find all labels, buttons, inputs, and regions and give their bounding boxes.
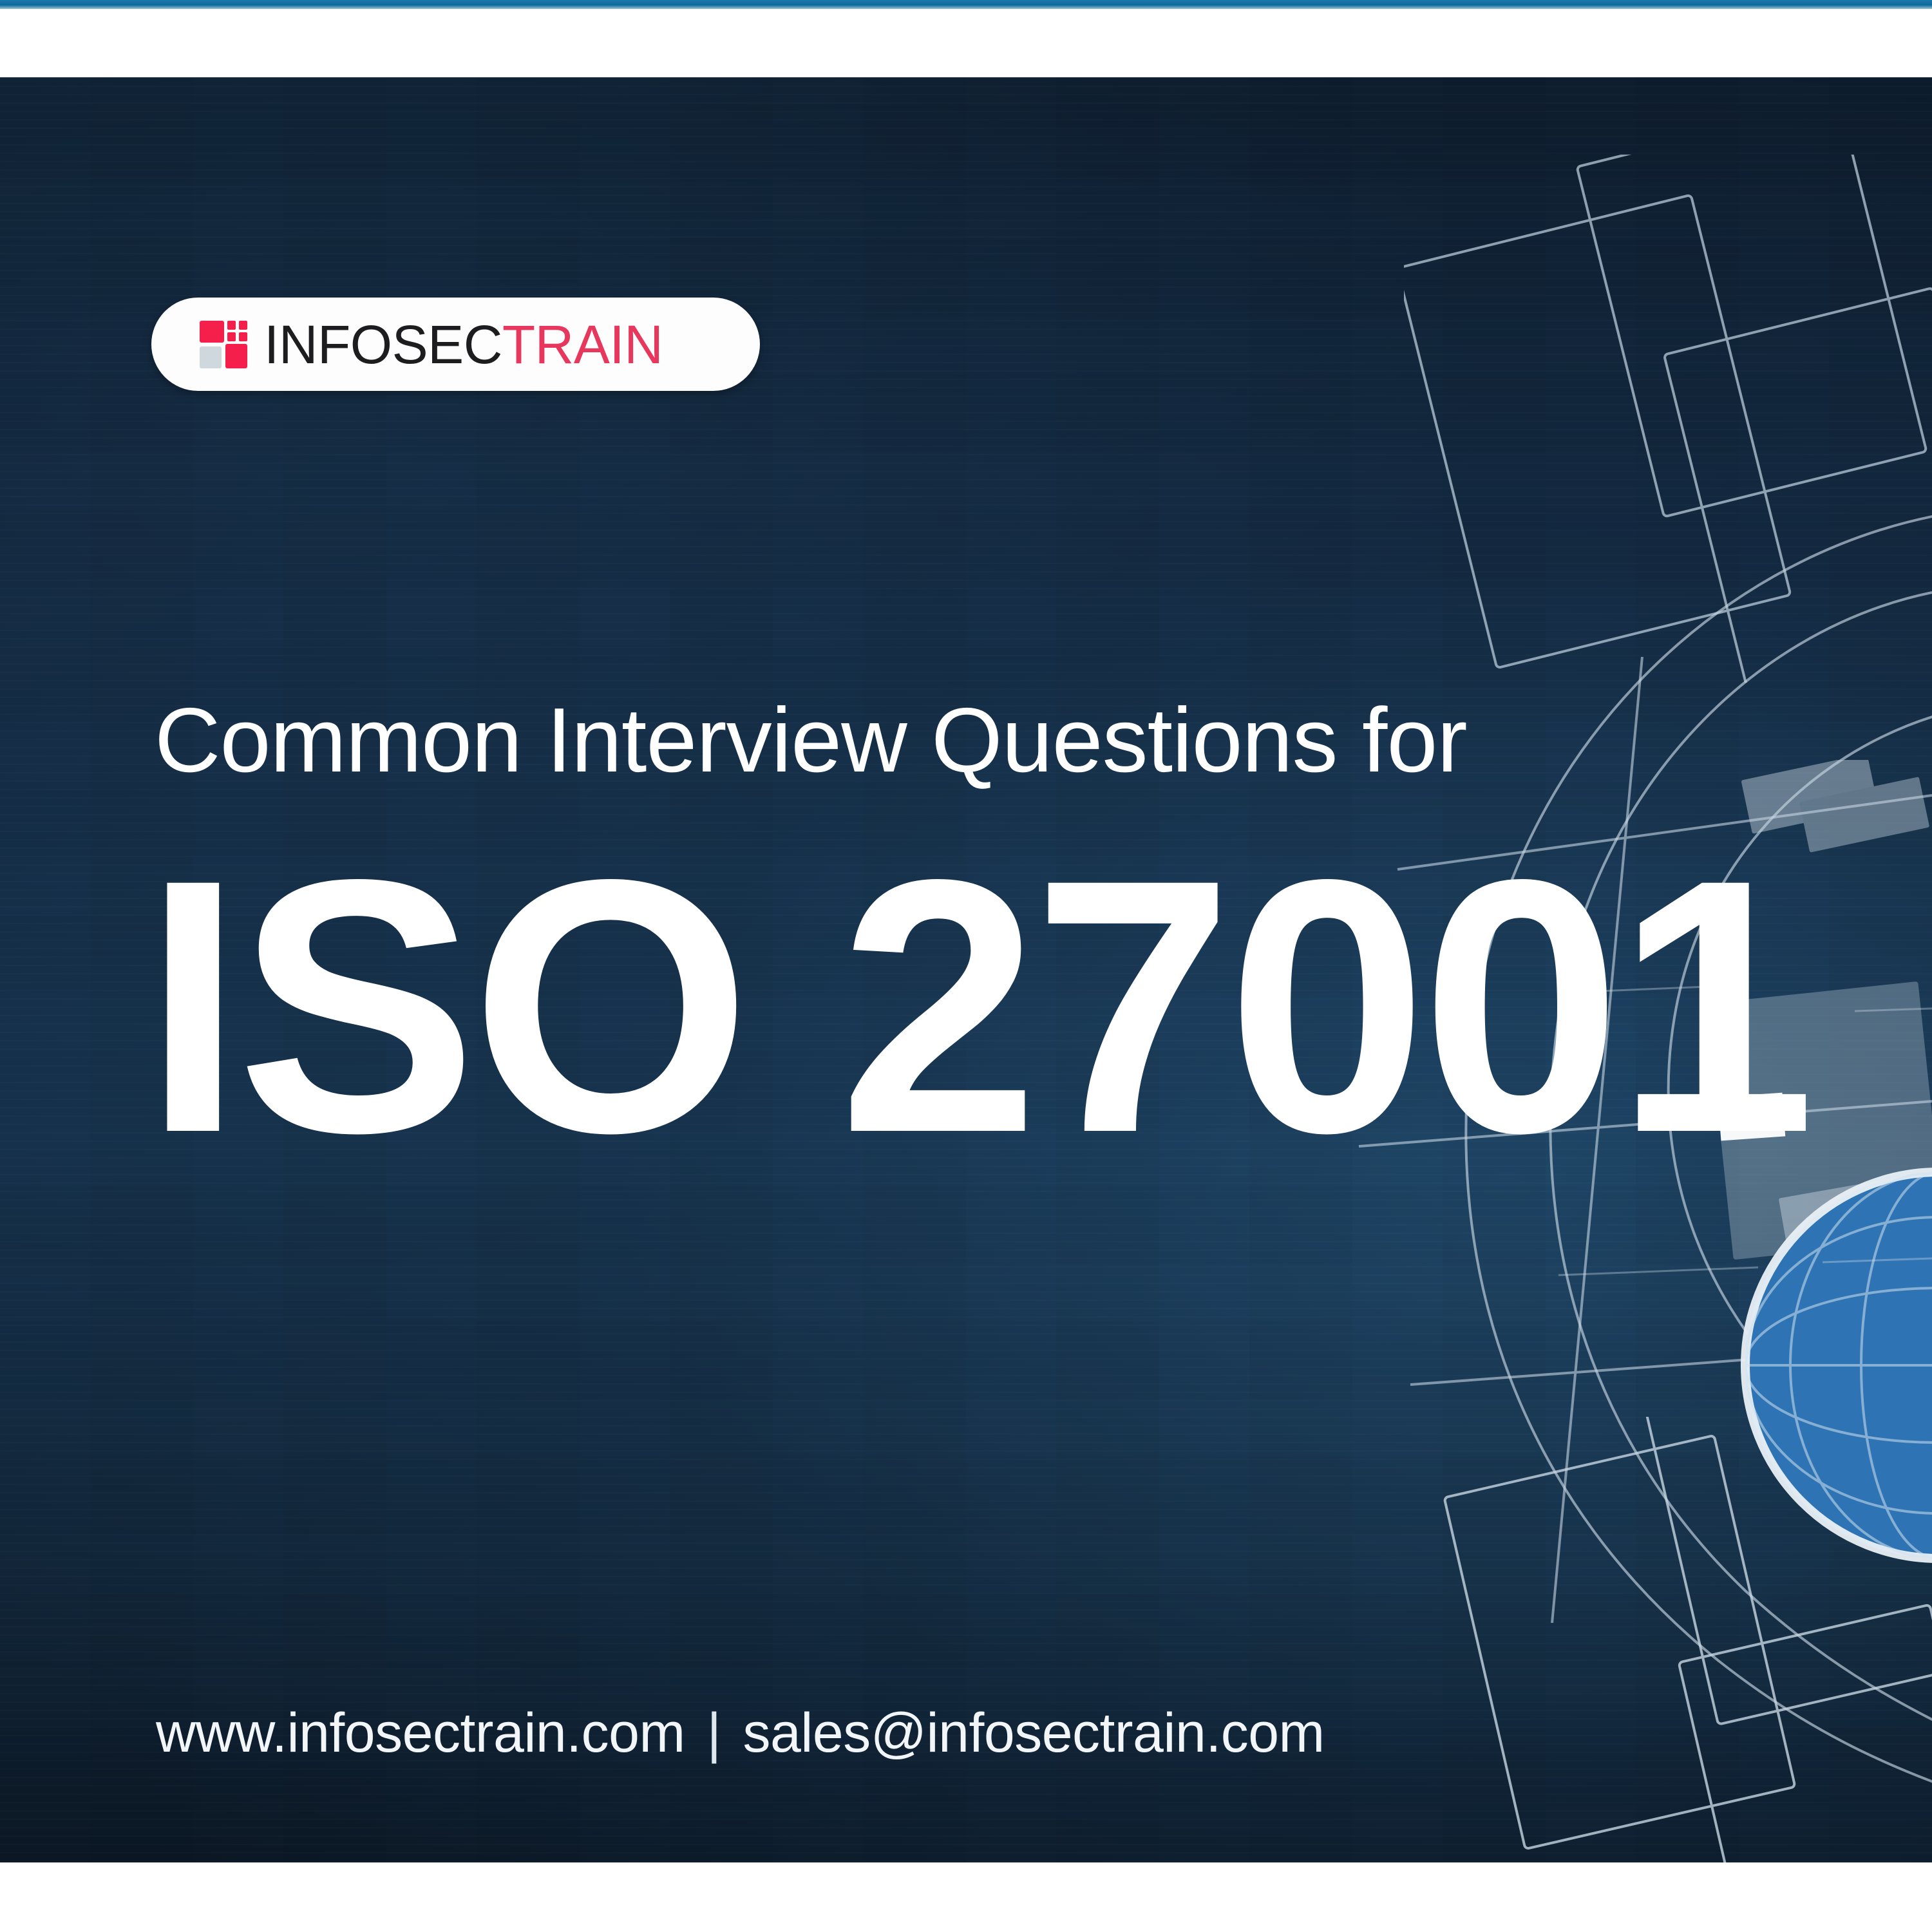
wireframe-rect-lower-right bbox=[1436, 1417, 1932, 1862]
brand-wordmark-primary: INFOSEC bbox=[264, 314, 502, 375]
top-accent-strip bbox=[0, 0, 1932, 9]
footer-website[interactable]: www.infosectrain.com bbox=[156, 1701, 685, 1765]
brand-wordmark-accent: TRAIN bbox=[502, 314, 663, 375]
top-white-band bbox=[0, 9, 1932, 77]
promo-slide: INFOSECTRAIN Common Interview Questions … bbox=[0, 0, 1932, 1932]
brand-logo[interactable]: INFOSECTRAIN bbox=[151, 298, 760, 391]
footer-contact: www.infosectrain.com | sales@infosectrai… bbox=[156, 1701, 1325, 1765]
banner-headline: ISO 27001 bbox=[143, 844, 1810, 1168]
banner-canvas: INFOSECTRAIN Common Interview Questions … bbox=[0, 77, 1932, 1862]
banner-subtitle: Common Interview Questions for bbox=[155, 692, 1765, 788]
wireframe-rect-upper-right bbox=[1404, 155, 1932, 683]
bottom-white-band bbox=[0, 1862, 1932, 1932]
footer-email[interactable]: sales@infosectrain.com bbox=[743, 1701, 1324, 1765]
brand-wordmark: INFOSECTRAIN bbox=[264, 317, 663, 372]
infosectrain-grid-mark-icon bbox=[200, 321, 247, 368]
footer-separator: | bbox=[707, 1701, 721, 1765]
